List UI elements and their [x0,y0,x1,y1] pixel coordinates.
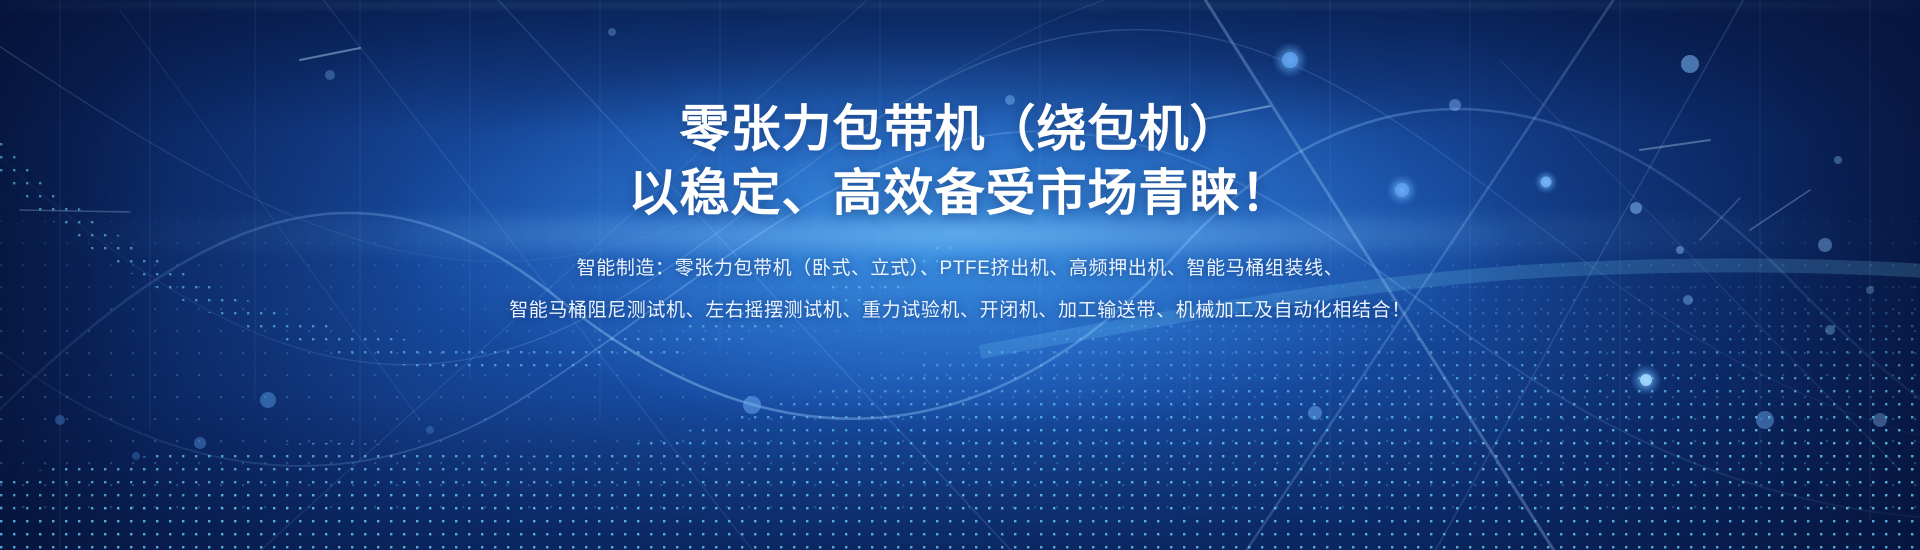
banner-content: 零张力包带机（绕包机） 以稳定、高效备受市场青睐！ 智能制造：零张力包带机（卧式… [0,0,1920,332]
promo-banner: 零张力包带机（绕包机） 以稳定、高效备受市场青睐！ 智能制造：零张力包带机（卧式… [0,0,1920,550]
banner-subheadline-line-1: 智能制造：零张力包带机（卧式、立式）、PTFE挤出机、高频押出机、智能马桶组装线… [0,248,1920,290]
banner-headline-line-2: 以稳定、高效备受市场青睐！ [0,162,1920,224]
banner-subheadline-line-2: 智能马桶阻尼测试机、左右摇摆测试机、重力试验机、开闭机、加工输送带、机械加工及自… [0,290,1920,332]
banner-headline-line-1: 零张力包带机（绕包机） [0,98,1920,160]
